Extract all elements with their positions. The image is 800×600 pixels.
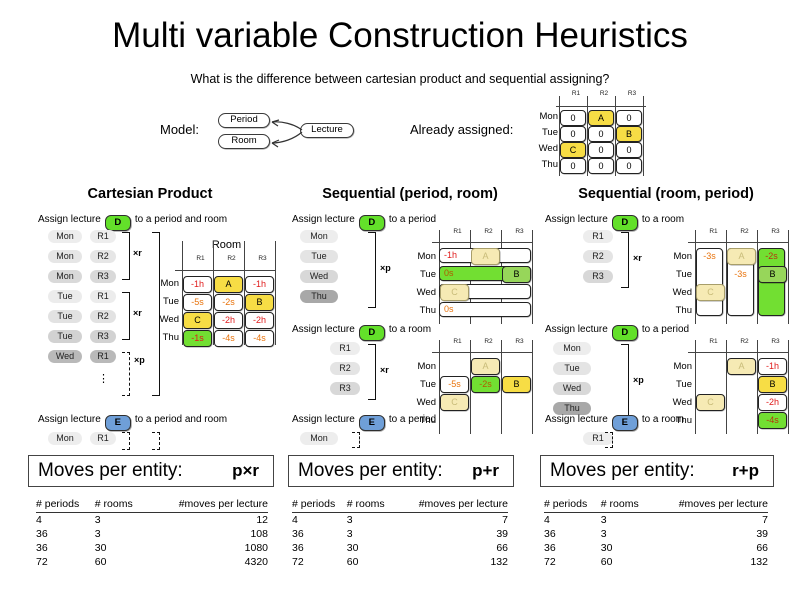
- row-header-Mon: Mon: [408, 251, 436, 262]
- assign-prefix: Assign lecture: [292, 214, 355, 225]
- col-divider-3: [532, 230, 533, 324]
- assign-row-1-col1: Assign lectureDto a period and room: [38, 214, 227, 231]
- seq-pr-period-list: MonTueWedThu×p: [292, 230, 402, 325]
- column-heading-cartesian: Cartesian Product: [20, 186, 280, 202]
- col-header-R1: R1: [442, 338, 473, 345]
- assigned-cell: 0: [588, 126, 614, 142]
- stats-cell: 4: [544, 513, 601, 528]
- list-pill: Wed: [300, 270, 338, 283]
- list-pill-period: Wed: [48, 350, 82, 363]
- list-pill-period: Mon: [48, 270, 82, 283]
- grid-caption: Room: [179, 239, 274, 251]
- lecture-chip-e[interactable]: E: [359, 415, 385, 431]
- assigned-cell: C: [560, 142, 586, 158]
- row-header-Tue: Tue: [536, 127, 558, 138]
- col-header-R3: R3: [247, 255, 278, 262]
- list-pill: R1: [330, 342, 360, 355]
- assign-row-3-col2: Assign lectureEto a period: [292, 414, 436, 431]
- table-row: 36339: [292, 527, 508, 541]
- lecture-chip-d[interactable]: D: [359, 215, 385, 231]
- score-cell: -4s: [214, 330, 243, 347]
- seq-rp-room-grid: R1R2R3MonTueWedThu-3s-2s-3sABC: [660, 228, 778, 323]
- stats-header-0: # periods: [292, 497, 347, 513]
- score-cell: -1h: [758, 358, 787, 375]
- list-pill-room: R1: [90, 350, 116, 363]
- inner-multiplier: ×r: [133, 308, 142, 318]
- list-ellipsis: ⋮: [98, 377, 109, 381]
- list-pill: Mon: [300, 432, 338, 445]
- moves-formula: p×r: [232, 461, 273, 481]
- group-bracket: [122, 432, 130, 450]
- cartesian-pair-list: MonR1MonR2MonR3TueR1TueR2TueR3WedR1⋮×r×r…: [38, 230, 168, 405]
- group-bracket: [122, 292, 130, 340]
- list-pill-period: Mon: [48, 230, 82, 243]
- list-pill: R2: [583, 250, 613, 263]
- existing-cell-b: B: [502, 266, 531, 283]
- assigned-cell: 0: [588, 142, 614, 158]
- list-pill: Tue: [300, 250, 338, 263]
- row-header-Wed: Wed: [408, 397, 436, 408]
- stats-cell: 108: [146, 527, 268, 541]
- stats-header-2: #moves per lecture: [651, 497, 768, 513]
- row-header-Tue: Tue: [408, 269, 436, 280]
- stats-table-cartesian: # periods# rooms#moves per lecture431236…: [36, 497, 268, 569]
- assign-prefix: Assign lecture: [545, 324, 608, 335]
- multiplier: ×p: [633, 375, 644, 385]
- page-subtitle: What is the difference between cartesian…: [0, 72, 800, 86]
- assign-prefix: Assign lecture: [38, 414, 101, 425]
- group-bracket: [122, 232, 130, 280]
- assigned-cell: 0: [588, 158, 614, 174]
- stats-cell: 30: [347, 541, 395, 555]
- stats-cell: 30: [95, 541, 147, 555]
- lecture-chip-d[interactable]: D: [612, 215, 638, 231]
- group-bracket: [122, 352, 130, 396]
- row-header-Wed: Wed: [153, 314, 179, 325]
- table-row: 363066: [292, 541, 508, 555]
- cartesian-score-grid: RoomR1R2R3Mon-1hA-1hTue-5s-2sBWedC-2h-2h…: [155, 255, 270, 375]
- col-divider-end: [643, 96, 644, 176]
- stats-cell: 60: [347, 555, 395, 569]
- stats-cell: 72: [544, 555, 601, 569]
- list-pill: Mon: [553, 342, 591, 355]
- existing-cell-c: C: [440, 284, 469, 301]
- header-rule: [688, 352, 789, 353]
- list-pill-room: R2: [90, 310, 116, 323]
- row-header-Tue: Tue: [660, 379, 692, 390]
- col-divider-1: [726, 340, 727, 434]
- lecture-chip-e[interactable]: E: [105, 415, 131, 431]
- col-divider-3: [532, 340, 533, 434]
- row-header-Mon: Mon: [536, 111, 558, 122]
- row-header-Mon: Mon: [408, 361, 436, 372]
- list-pill: R3: [330, 382, 360, 395]
- assign-prefix: Assign lecture: [38, 214, 101, 225]
- list-pill-room: R3: [90, 270, 116, 283]
- group-bracket: [368, 232, 376, 308]
- moves-box-seq-rp: Moves per entity: r+p: [540, 455, 774, 487]
- assign-row-3-col3: Assign lectureEto a room: [545, 414, 684, 431]
- row-header-Mon: Mon: [153, 278, 179, 289]
- existing-cell-c: C: [696, 284, 725, 301]
- stats-cell: 1080: [146, 541, 268, 555]
- list-pill-room: R1: [90, 290, 116, 303]
- stats-cell: 66: [651, 541, 768, 555]
- assigned-cell: B: [616, 126, 642, 142]
- score-cell: C: [696, 394, 725, 411]
- table-row: 437: [544, 513, 768, 528]
- score-cell: -4s: [245, 330, 274, 347]
- group-bracket: [621, 232, 629, 288]
- moves-formula: p+r: [472, 461, 513, 481]
- stats-header-2: #moves per lecture: [146, 497, 268, 513]
- row-header-Mon: Mon: [660, 361, 692, 372]
- row-header-Tue: Tue: [408, 379, 436, 390]
- seq-pr-period-grid: R1R2R3Mon-1hTue0sWed-2hThu0sABC: [408, 228, 518, 323]
- col-header-R1: R1: [442, 228, 473, 235]
- col-header-R2: R2: [473, 228, 504, 235]
- group-bracket: [352, 432, 360, 448]
- assign-prefix: Assign lecture: [292, 324, 355, 335]
- page-title: Multi variable Construction Heuristics: [0, 16, 800, 56]
- score-cell: -2h: [758, 394, 787, 411]
- moves-box-seq-pr: Moves per entity: p+r: [288, 455, 514, 487]
- col-header-R1: R1: [698, 228, 729, 235]
- already-assigned-grid: R1R2R3Mon0A0Tue00BWedC00Thu000: [536, 90, 656, 170]
- outer-bracket: [152, 432, 160, 450]
- col-header-R1: R1: [698, 338, 729, 345]
- table-row: 363066: [544, 541, 768, 555]
- moves-label: Moves per entity:: [541, 460, 695, 482]
- stats-cell: 60: [95, 555, 147, 569]
- assign-prefix: Assign lecture: [545, 414, 608, 425]
- table-row: 72604320: [36, 555, 268, 569]
- list-pill-room: R2: [90, 250, 116, 263]
- assign-suffix: to a period: [389, 214, 436, 225]
- score-cell: -2s: [471, 376, 500, 393]
- stats-table-seq-pr: # periods# rooms#moves per lecture437363…: [292, 497, 508, 569]
- col-header-R3: R3: [504, 338, 535, 345]
- list-pill-room: R1: [90, 432, 116, 445]
- stats-cell: 4: [292, 513, 347, 528]
- stats-cell: 36: [36, 527, 95, 541]
- list-pill-room: R3: [90, 330, 116, 343]
- model-arrows-icon: [210, 108, 360, 163]
- col-divider-3: [788, 340, 789, 434]
- score-cell: -2h: [245, 312, 274, 329]
- score-cell: -1s: [183, 330, 212, 347]
- stats-table-seq-rp: # periods# rooms#moves per lecture437363…: [544, 497, 768, 569]
- row-header-Thu: Thu: [153, 332, 179, 343]
- row-header-Wed: Wed: [408, 287, 436, 298]
- col-header-R3: R3: [760, 338, 791, 345]
- list-pill-period: Mon: [48, 250, 82, 263]
- assigned-cell: 0: [560, 126, 586, 142]
- col-divider-0: [182, 241, 183, 345]
- row-header-Tue: Tue: [660, 269, 692, 280]
- stats-cell: 39: [651, 527, 768, 541]
- outer-multiplier: ×p: [134, 355, 145, 365]
- assigned-cell: 0: [616, 110, 642, 126]
- table-row: 7260132: [292, 555, 508, 569]
- stats-cell: 36: [544, 527, 601, 541]
- score-cell-r2-tue: -3s: [727, 268, 754, 281]
- lecture-chip-e[interactable]: E: [612, 415, 638, 431]
- score-cell: B: [245, 294, 274, 311]
- row-header-Wed: Wed: [536, 143, 558, 154]
- row-header-Wed: Wed: [660, 397, 692, 408]
- stats-cell: 39: [395, 527, 508, 541]
- stats-cell: 4: [36, 513, 95, 528]
- column-heading-seq-rp: Sequential (room, period): [535, 186, 797, 202]
- stats-cell: 36: [292, 541, 347, 555]
- row-header-Tue: Tue: [153, 296, 179, 307]
- col-divider-3: [275, 241, 276, 345]
- stats-header-1: # rooms: [95, 497, 147, 513]
- stats-cell: 3: [95, 513, 147, 528]
- col-bar: -3s: [696, 248, 723, 316]
- stats-cell: 3: [601, 513, 651, 528]
- stats-cell: 66: [395, 541, 508, 555]
- seq-rp-next-list: R1: [545, 432, 655, 452]
- row-header-Thu: Thu: [408, 305, 436, 316]
- column-heading-seq-pr: Sequential (period, room): [280, 186, 540, 202]
- lecture-chip-d[interactable]: D: [359, 325, 385, 341]
- score-cell: B: [758, 376, 787, 393]
- table-row: 36301080: [36, 541, 268, 555]
- score-cell: C: [440, 394, 469, 411]
- group-bracket: [368, 344, 376, 400]
- col-header-R2: R2: [729, 228, 760, 235]
- assign-suffix: to a room: [642, 414, 684, 425]
- stats-cell: 3: [601, 527, 651, 541]
- group-bracket: [621, 344, 629, 420]
- list-pill: R2: [330, 362, 360, 375]
- col-header-R2: R2: [729, 338, 760, 345]
- assign-suffix: to a period and room: [135, 414, 227, 425]
- lecture-chip-d[interactable]: D: [105, 215, 131, 231]
- lecture-chip-d[interactable]: D: [612, 325, 638, 341]
- stats-cell: 36: [36, 541, 95, 555]
- stats-header-2: #moves per lecture: [395, 497, 508, 513]
- score-cell: -2h: [214, 312, 243, 329]
- col-divider-2: [244, 241, 245, 345]
- inner-multiplier: ×r: [133, 248, 142, 258]
- col-divider-1: [213, 241, 214, 345]
- multiplier: ×p: [380, 263, 391, 273]
- header-rule: [432, 352, 533, 353]
- stats-cell: 36: [292, 527, 347, 541]
- assign-suffix: to a period and room: [135, 214, 227, 225]
- assigned-cell: 0: [560, 110, 586, 126]
- assign-suffix: to a period: [389, 414, 436, 425]
- row-header-Thu: Thu: [536, 159, 558, 170]
- stats-header-0: # periods: [36, 497, 95, 513]
- score-cell: -1h: [245, 276, 274, 293]
- list-pill-period: Tue: [48, 290, 82, 303]
- list-pill: Wed: [553, 382, 591, 395]
- stats-cell: 72: [292, 555, 347, 569]
- stats-cell: 72: [36, 555, 95, 569]
- table-row: 4312: [36, 513, 268, 528]
- col-header-R3: R3: [504, 228, 535, 235]
- moves-label: Moves per entity:: [29, 460, 183, 482]
- existing-cell-a: A: [727, 248, 756, 265]
- col-header-R2: R2: [473, 338, 504, 345]
- score-cell: -2s: [214, 294, 243, 311]
- score-cell: C: [183, 312, 212, 329]
- assign-suffix: to a period: [642, 324, 689, 335]
- stats-cell: 60: [601, 555, 651, 569]
- existing-cell-b: B: [758, 266, 787, 283]
- score-cell: -1h: [183, 276, 212, 293]
- stats-cell: 4320: [146, 555, 268, 569]
- list-pill-room: R1: [90, 230, 116, 243]
- moves-label: Moves per entity:: [289, 460, 443, 482]
- assign-prefix: Assign lecture: [545, 214, 608, 225]
- multiplier: ×r: [633, 253, 642, 263]
- score-cell: -5s: [440, 376, 469, 393]
- col-header-R1: R1: [185, 255, 216, 262]
- header-rule: [688, 242, 789, 243]
- stats-cell: 30: [601, 541, 651, 555]
- multiplier: ×r: [380, 365, 389, 375]
- list-pill: R1: [583, 230, 613, 243]
- score-cell: -4s: [758, 412, 787, 429]
- score-cell: B: [502, 376, 531, 393]
- table-row: 7260132: [544, 555, 768, 569]
- list-pill-period: Tue: [48, 330, 82, 343]
- assigned-cell: 0: [560, 158, 586, 174]
- already-assigned-label: Already assigned:: [410, 122, 513, 137]
- assign-suffix: to a room: [642, 214, 684, 225]
- assign-prefix: Assign lecture: [292, 414, 355, 425]
- seq-rp-room-list: R1R2R3×r: [545, 230, 655, 325]
- moves-box-cartesian: Moves per entity: p×r: [28, 455, 274, 487]
- col-header-R2: R2: [590, 90, 618, 97]
- stats-cell: 3: [347, 513, 395, 528]
- assign-row-2-col1: Assign lectureEto a period and room: [38, 414, 227, 431]
- moves-formula: r+p: [732, 461, 773, 481]
- col-divider-3: [788, 230, 789, 324]
- list-pill: R3: [583, 270, 613, 283]
- list-pill-period: Tue: [48, 310, 82, 323]
- stats-cell: 3: [347, 527, 395, 541]
- existing-cell-a: A: [471, 248, 500, 265]
- col-header-R2: R2: [216, 255, 247, 262]
- row-header-Mon: Mon: [660, 251, 692, 262]
- col-header-R3: R3: [760, 228, 791, 235]
- cartesian-pair-list-2: MonR1: [38, 432, 168, 452]
- assigned-cell: A: [588, 110, 614, 126]
- header-rule: [556, 106, 646, 107]
- table-row: 36339: [544, 527, 768, 541]
- stats-header-1: # rooms: [601, 497, 651, 513]
- stats-cell: 7: [651, 513, 768, 528]
- header-rule: [175, 270, 276, 271]
- stats-cell: 12: [146, 513, 268, 528]
- assigned-cell: 0: [616, 158, 642, 174]
- list-pill: Tue: [553, 362, 591, 375]
- assigned-cell: 0: [616, 142, 642, 158]
- list-pill: Mon: [300, 230, 338, 243]
- stats-header-1: # rooms: [347, 497, 395, 513]
- col-header-R1: R1: [562, 90, 590, 97]
- stats-cell: 7: [395, 513, 508, 528]
- row-bar: 0s: [439, 302, 531, 317]
- stats-cell: 36: [544, 541, 601, 555]
- score-cell: -5s: [183, 294, 212, 311]
- table-row: 437: [292, 513, 508, 528]
- group-bracket: [605, 432, 613, 448]
- stats-header-0: # periods: [544, 497, 601, 513]
- col-divider-0: [695, 340, 696, 434]
- list-pill-period: Mon: [48, 432, 82, 445]
- stats-cell: 132: [395, 555, 508, 569]
- score-cell: A: [471, 358, 500, 375]
- assign-suffix: to a room: [389, 324, 431, 335]
- row-header-Thu: Thu: [660, 305, 692, 316]
- col-header-R3: R3: [618, 90, 646, 97]
- score-cell: A: [727, 358, 756, 375]
- seq-pr-next-list: Mon: [292, 432, 402, 452]
- list-pill: Thu: [300, 290, 338, 303]
- stats-cell: 132: [651, 555, 768, 569]
- table-row: 363108: [36, 527, 268, 541]
- model-label: Model:: [160, 122, 199, 137]
- header-rule: [432, 242, 533, 243]
- row-header-Wed: Wed: [660, 287, 692, 298]
- stats-cell: 3: [95, 527, 147, 541]
- score-cell: A: [214, 276, 243, 293]
